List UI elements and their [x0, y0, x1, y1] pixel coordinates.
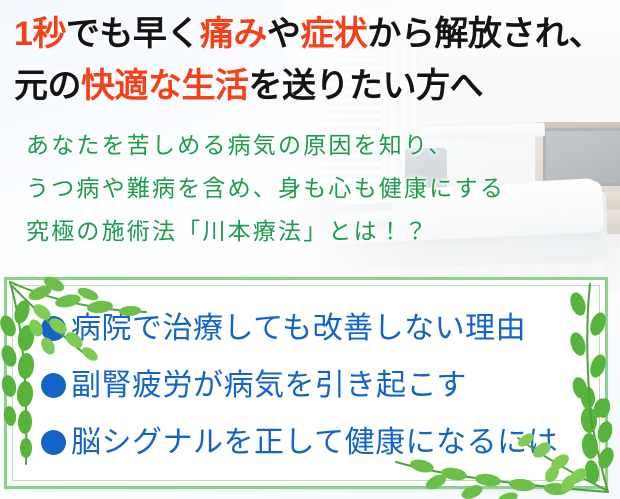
- headline-seg: 1秒: [14, 15, 66, 53]
- promo-banner: 1秒でも早く痛みや症状から解放され、 元の快適な生活を送りたい方へ あなたを苦し…: [0, 0, 620, 499]
- bullet-label: 病院で治療しても改善しない理由: [71, 312, 526, 346]
- headline-seg: 元の: [14, 67, 81, 105]
- headline-line-1: 1秒でも早く痛みや症状から解放され、: [14, 8, 614, 60]
- headline-seg: から解放され、: [367, 15, 602, 53]
- headline-seg: でも早く: [66, 15, 200, 53]
- bullet-dot-icon: [41, 430, 66, 455]
- bullet-box: 病院で治療しても改善しない理由 副腎疲労が病気を引き起こす 脳シグナルを正して健…: [4, 277, 608, 489]
- lead-line-1: あなたを苦しめる病気の原因を知り、: [26, 124, 606, 167]
- headline-seg: 快適な生活: [81, 67, 249, 105]
- lead-line-3: 究極の施術法「川本療法」とは！？: [26, 210, 606, 253]
- headline-line-2: 元の快適な生活を送りたい方へ: [14, 60, 614, 112]
- bullet-label: 副腎疲労が病気を引き起こす: [71, 369, 467, 403]
- headline-seg: を送りたい方へ: [249, 67, 484, 105]
- headline: 1秒でも早く痛みや症状から解放され、 元の快適な生活を送りたい方へ: [14, 8, 614, 112]
- headline-seg: 痛み: [200, 15, 267, 53]
- bullet-dot-icon: [41, 373, 66, 398]
- bullet-label: 脳シグナルを正して健康になるには: [71, 426, 558, 460]
- bullet-dot-icon: [41, 316, 66, 341]
- headline-seg: 症状: [300, 15, 367, 53]
- list-item: 副腎疲労が病気を引き起こす: [41, 357, 595, 414]
- lead-line-2: うつ病や難病を含め、身も心も健康にする: [26, 167, 606, 210]
- lead-paragraph: あなたを苦しめる病気の原因を知り、 うつ病や難病を含め、身も心も健康にする 究極…: [26, 124, 606, 253]
- list-item: 脳シグナルを正して健康になるには: [41, 414, 595, 471]
- list-item: 病院で治療しても改善しない理由: [41, 300, 595, 357]
- bullet-list: 病院で治療しても改善しない理由 副腎疲労が病気を引き起こす 脳シグナルを正して健…: [41, 300, 595, 471]
- headline-seg: や: [267, 15, 301, 53]
